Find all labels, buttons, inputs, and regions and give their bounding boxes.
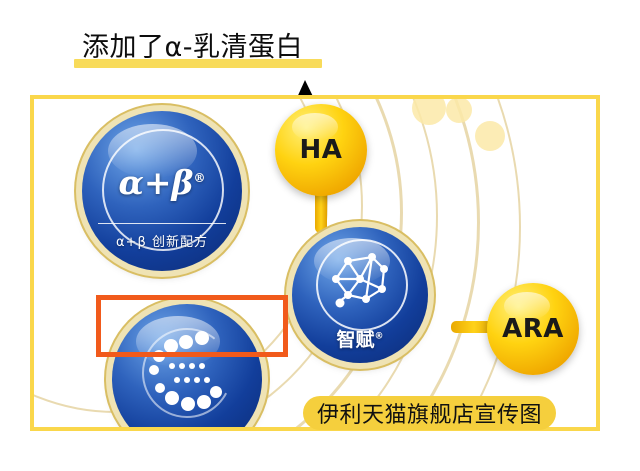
brain-registered-mark: ® [375, 332, 384, 342]
alpha-beta-main: α+β [119, 163, 194, 202]
network-brain-icon [322, 245, 400, 323]
annotation-title: 添加了α-乳清蛋白 [78, 28, 348, 72]
brain-label: 智赋® [292, 325, 428, 352]
alpha-beta-text: α+β® [82, 163, 242, 202]
alpha-beta-slogan: α+β 创新配方 [82, 231, 242, 250]
source-caption: 伊利天猫旗舰店宣传图 [303, 396, 556, 430]
node-brain[interactable]: 智赋® [292, 227, 428, 363]
node-ara-label: ARA [502, 314, 564, 344]
highlight-rectangle [96, 295, 288, 357]
decor-bubble-3 [475, 121, 505, 151]
alpha-beta-divider [98, 223, 226, 224]
node-alpha-beta[interactable]: α+β® α+β 创新配方 [82, 111, 242, 271]
node-dha-label: HA [300, 135, 343, 165]
node-dha[interactable]: HA [275, 104, 367, 196]
node-ara[interactable]: ARA [487, 283, 579, 375]
source-caption-text: 伊利天猫旗舰店宣传图 [317, 397, 542, 429]
promo-canvas: α+β® α+β 创新配方 [34, 99, 596, 427]
alpha-beta-registered-mark: ® [193, 171, 205, 185]
annotation-title-text: 添加了α-乳清蛋白 [82, 28, 303, 68]
promo-image-frame: α+β® α+β 创新配方 [30, 95, 600, 431]
brain-label-text: 智赋 [336, 329, 374, 351]
